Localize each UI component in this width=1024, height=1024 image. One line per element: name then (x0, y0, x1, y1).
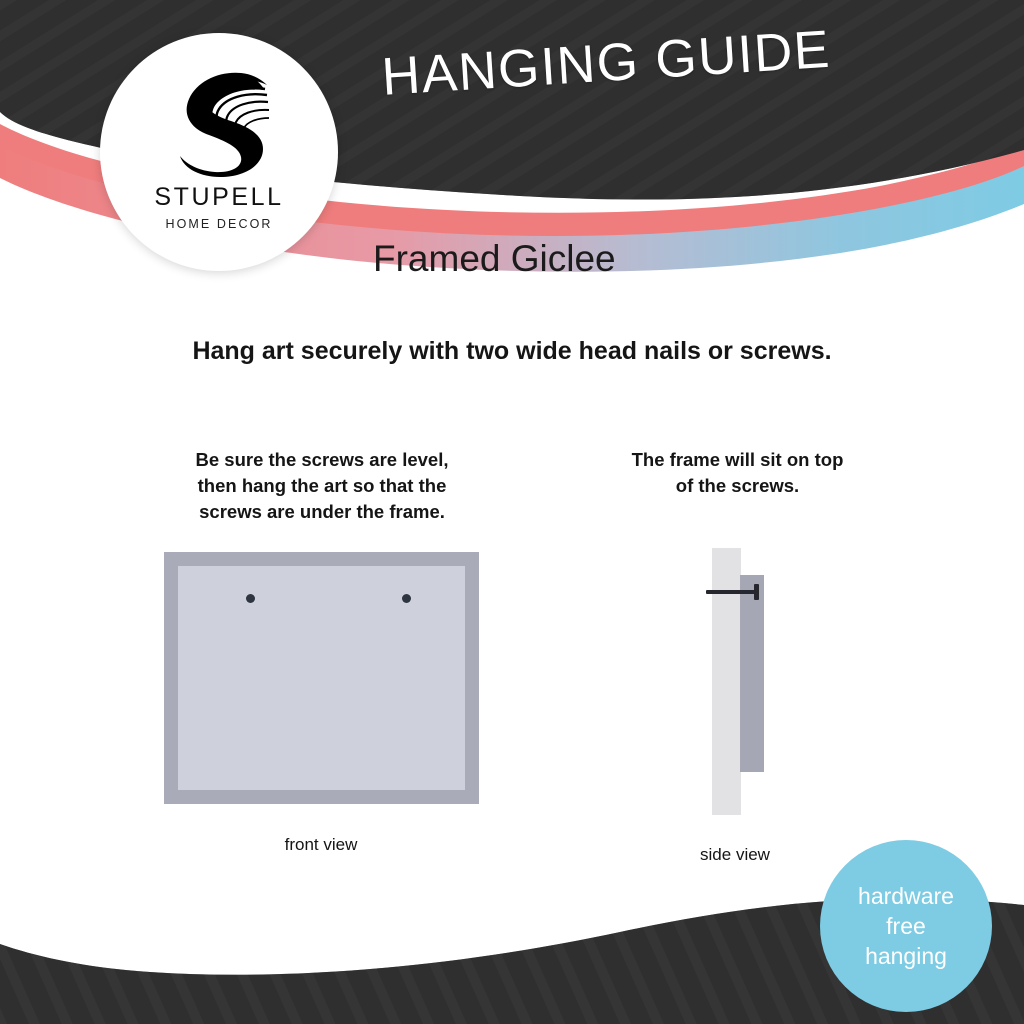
side-view-label: side view (660, 845, 810, 865)
side-view-diagram (700, 545, 810, 820)
front-view-caption: Be sure the screws are level, then hang … (148, 447, 496, 525)
nail-icon (706, 590, 758, 594)
side-caption-line-1: The frame will sit on top (595, 447, 880, 473)
brand-logo-badge: STUPELL HOME DECOR (100, 33, 338, 271)
front-view-diagram (164, 552, 479, 804)
side-view-wall (712, 548, 741, 815)
screw-dot-left-icon (246, 594, 255, 603)
front-view-artwork-area (178, 566, 465, 790)
brand-name: STUPELL (154, 183, 283, 212)
side-caption-line-2: of the screws. (595, 473, 880, 499)
front-caption-line-2: then hang the art so that the (148, 473, 496, 499)
badge-line-3: hanging (865, 941, 947, 971)
badge-line-1: hardware (858, 881, 954, 911)
front-view-label: front view (196, 835, 446, 855)
side-view-frame (740, 575, 764, 772)
product-type-heading: Framed Giclee (373, 238, 616, 280)
screw-dot-right-icon (402, 594, 411, 603)
nail-head-icon (754, 584, 759, 600)
hanging-guide-infographic: STUPELL HOME DECOR HANGING GUIDE Framed … (0, 0, 1024, 1024)
badge-line-2: free (886, 911, 926, 941)
page-title: HANGING GUIDE (380, 19, 832, 108)
hardware-free-hanging-badge: hardware free hanging (820, 840, 992, 1012)
stupell-swirl-logo-icon (167, 59, 271, 177)
front-caption-line-1: Be sure the screws are level, (148, 447, 496, 473)
front-caption-line-3: screws are under the frame. (148, 499, 496, 525)
lead-instruction: Hang art securely with two wide head nai… (0, 337, 1024, 366)
side-view-caption: The frame will sit on top of the screws. (595, 447, 880, 499)
brand-tagline: HOME DECOR (165, 217, 272, 231)
